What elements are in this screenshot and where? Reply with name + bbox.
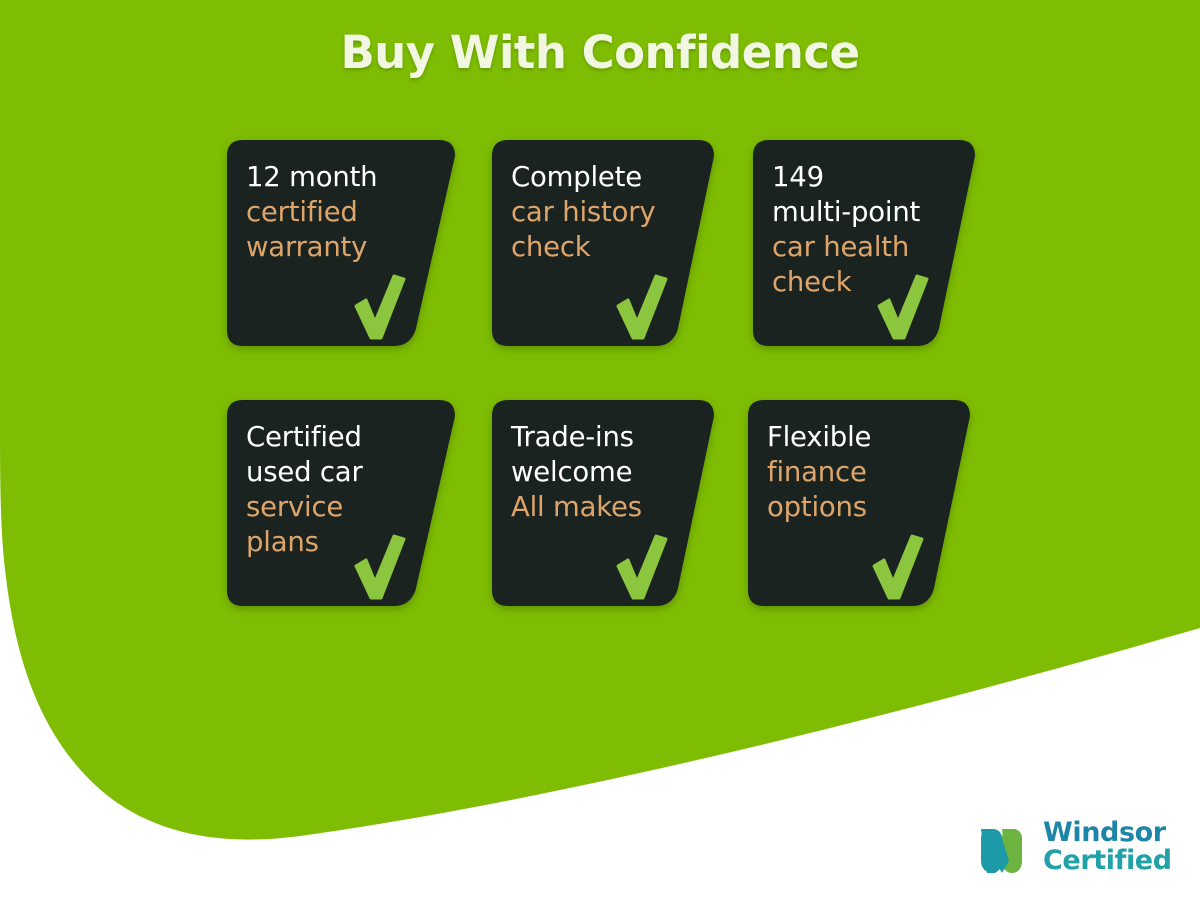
card-line: check	[772, 265, 958, 300]
windsor-certified-logo: Windsor Certified	[975, 808, 1175, 886]
card-line: multi-point	[772, 195, 958, 230]
card-line: certified	[246, 195, 432, 230]
card-line: warranty	[246, 230, 432, 265]
logo-line-windsor: Windsor	[1043, 819, 1172, 847]
card-149-multi-point-car-health-check[interactable]: 149multi-pointcar healthcheck	[753, 140, 975, 346]
check-icon	[616, 534, 668, 600]
card-flexible-finance-options[interactable]: Flexiblefinanceoptions	[748, 400, 970, 606]
check-icon	[877, 274, 929, 340]
card-line: options	[767, 490, 953, 525]
card-line: All makes	[511, 490, 697, 525]
card-line: car health	[772, 230, 958, 265]
check-icon	[354, 274, 406, 340]
card-12-month-certified-warranty[interactable]: 12 monthcertifiedwarranty	[227, 140, 455, 346]
card-line: check	[511, 230, 697, 265]
card-text-block: Flexiblefinanceoptions	[767, 420, 953, 525]
check-icon	[354, 534, 406, 600]
check-icon	[616, 274, 668, 340]
check-icon	[872, 534, 924, 600]
card-line: car history	[511, 195, 697, 230]
windsor-w-icon	[975, 817, 1035, 877]
card-line: Flexible	[767, 420, 953, 455]
card-text-block: 12 monthcertifiedwarranty	[246, 160, 432, 265]
card-certified-used-car-service-plans[interactable]: Certifiedused carserviceplans	[227, 400, 455, 606]
card-line: Trade-ins	[511, 420, 697, 455]
card-text-block: Trade-inswelcomeAll makes	[511, 420, 697, 525]
card-trade-ins-welcome-all-makes[interactable]: Trade-inswelcomeAll makes	[492, 400, 714, 606]
card-line: finance	[767, 455, 953, 490]
card-line: used car	[246, 455, 432, 490]
card-complete-car-history-check[interactable]: Completecar historycheck	[492, 140, 714, 346]
card-text-block: 149multi-pointcar healthcheck	[772, 160, 958, 300]
card-line: service	[246, 490, 432, 525]
card-line: Complete	[511, 160, 697, 195]
card-text-block: Completecar historycheck	[511, 160, 697, 265]
logo-line-certified: Certified	[1043, 847, 1172, 875]
card-line: Certified	[246, 420, 432, 455]
card-line: 149	[772, 160, 958, 195]
card-line: welcome	[511, 455, 697, 490]
benefits-grid: 12 monthcertifiedwarrantyCompletecar his…	[0, 0, 1200, 900]
card-line: 12 month	[246, 160, 432, 195]
poster-canvas: Buy With Confidence 12 monthcertifiedwar…	[0, 0, 1200, 900]
